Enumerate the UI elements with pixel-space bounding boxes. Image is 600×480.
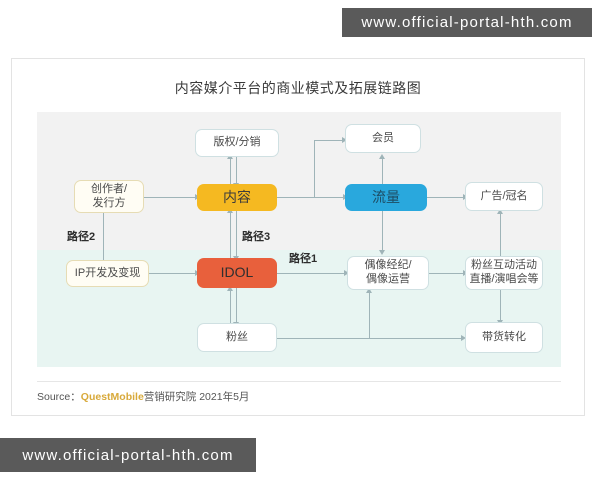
node-fanevent-label: 粉丝互动活动直播/演唱会等 (469, 259, 538, 287)
node-fanevent[interactable]: 粉丝互动活动直播/演唱会等 (465, 256, 543, 290)
edge-creator-content (144, 197, 197, 198)
node-member[interactable]: 会员 (345, 124, 421, 153)
flow-diagram: 创作者/发行方 版权/分销 内容 会员 流量 广告/冠名 IP开发及变现 IDO… (37, 112, 561, 367)
edge-content-copyright-up (230, 156, 231, 185)
edge-copyright-content-down (236, 156, 237, 185)
path-label-1: 路径1 (289, 250, 317, 266)
watermark-bottom-banner: www.official-portal-hth.com (0, 438, 256, 472)
node-commerce-label: 带货转化 (482, 331, 526, 345)
node-ip-label: IP开发及变现 (75, 267, 140, 281)
edge-fanevent-ad (500, 212, 501, 256)
node-agency[interactable]: 偶像经纪/偶像运营 (347, 256, 429, 290)
edge-fans-commerce (277, 338, 463, 339)
edge-idol-content-up (230, 210, 231, 258)
node-creator-label: 创作者/发行方 (91, 183, 127, 211)
watermark-top-banner: www.official-portal-hth.com (342, 8, 592, 37)
edge-fans-idol-up (230, 288, 231, 324)
edge-content-idol-down (236, 210, 237, 258)
node-creator[interactable]: 创作者/发行方 (74, 180, 144, 213)
footer-divider (37, 381, 561, 382)
node-content-label: 内容 (223, 189, 251, 207)
edge-content-member-v (314, 140, 315, 198)
edge-ip-idol (149, 273, 197, 274)
edge-fans-agency (369, 290, 370, 339)
edge-content-traffic (277, 197, 345, 198)
source-prefix: Source： (37, 391, 81, 403)
edge-idol-fans-down (236, 288, 237, 324)
node-ad[interactable]: 广告/冠名 (465, 182, 543, 211)
edge-traffic-member (382, 157, 383, 185)
edge-content-member-h2 (314, 140, 344, 141)
node-ip[interactable]: IP开发及变现 (66, 260, 149, 287)
node-copyright-label: 版权/分销 (213, 136, 260, 150)
source-note: Source：QuestMobile营销研究院 2021年5月 (37, 389, 249, 404)
watermark-bottom-text: www.official-portal-hth.com (22, 447, 233, 464)
node-idol[interactable]: IDOL (197, 258, 277, 288)
node-fans-label: 粉丝 (226, 331, 248, 345)
arrowhead-traffic-agency (379, 250, 385, 255)
node-commerce[interactable]: 带货转化 (465, 322, 543, 353)
node-fans[interactable]: 粉丝 (197, 323, 277, 352)
node-copyright[interactable]: 版权/分销 (195, 129, 279, 157)
node-traffic[interactable]: 流量 (345, 184, 427, 211)
chart-card: 内容媒介平台的商业模式及拓展链路图 (11, 58, 585, 416)
edge-traffic-ad (427, 197, 465, 198)
edge-agency-fanevent (429, 273, 465, 274)
edge-traffic-agency (382, 210, 383, 252)
path-label-3: 路径3 (242, 228, 270, 244)
path-label-2: 路径2 (67, 228, 95, 244)
arrowhead-traffic-member (379, 154, 385, 159)
source-brand: QuestMobile (81, 391, 144, 403)
node-ad-label: 广告/冠名 (480, 190, 527, 204)
source-suffix: 营销研究院 2021年5月 (144, 391, 250, 403)
edge-idol-agency (277, 273, 347, 274)
node-member-label: 会员 (372, 132, 394, 146)
node-idol-label: IDOL (221, 264, 254, 282)
node-agency-label: 偶像经纪/偶像运营 (364, 259, 411, 287)
node-traffic-label: 流量 (372, 189, 400, 207)
node-content[interactable]: 内容 (197, 184, 277, 211)
page-title: 内容媒介平台的商业模式及拓展链路图 (12, 78, 584, 98)
watermark-top-text: www.official-portal-hth.com (361, 14, 572, 31)
edge-creator-ip (103, 212, 104, 262)
edge-fanevent-commerce (500, 290, 501, 322)
